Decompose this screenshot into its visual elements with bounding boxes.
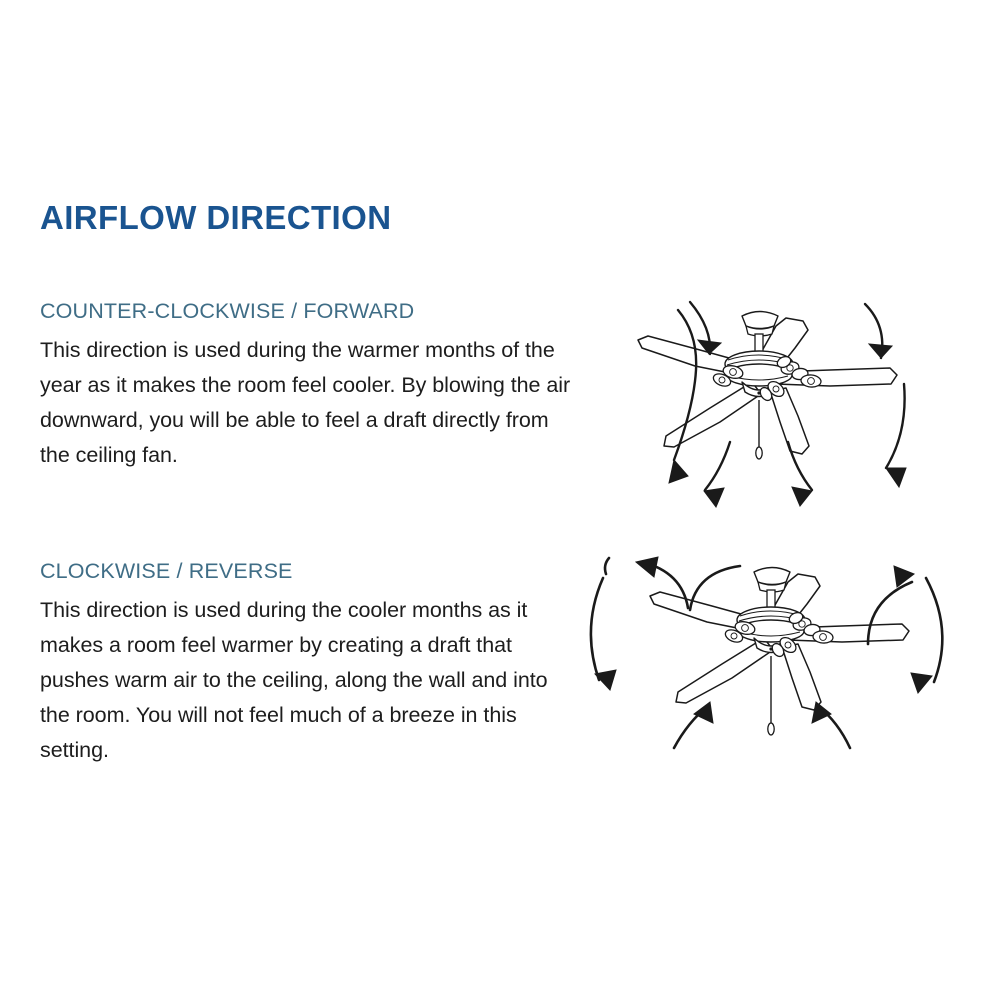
section-clockwise-reverse: CLOCKWISE / REVERSE This direction is us… — [40, 560, 580, 768]
ceiling-fan-updraft-illustration — [570, 548, 970, 788]
fan-body — [650, 568, 909, 736]
section-body-counter-clockwise-forward: This direction is used during the warmer… — [40, 333, 580, 473]
ceiling-fan-downdraft-illustration — [590, 296, 950, 526]
section-heading-counter-clockwise-forward: COUNTER-CLOCKWISE / FORWARD — [40, 300, 580, 324]
fan-body — [638, 312, 897, 460]
section-counter-clockwise-forward: COUNTER-CLOCKWISE / FORWARD This directi… — [40, 300, 580, 473]
page-title: AIRFLOW DIRECTION — [40, 200, 391, 236]
section-heading-clockwise-reverse: CLOCKWISE / REVERSE — [40, 560, 580, 584]
section-body-clockwise-reverse: This direction is used during the cooler… — [40, 593, 580, 768]
page-root: AIRFLOW DIRECTION COUNTER-CLOCKWISE / FO… — [0, 0, 1000, 1000]
